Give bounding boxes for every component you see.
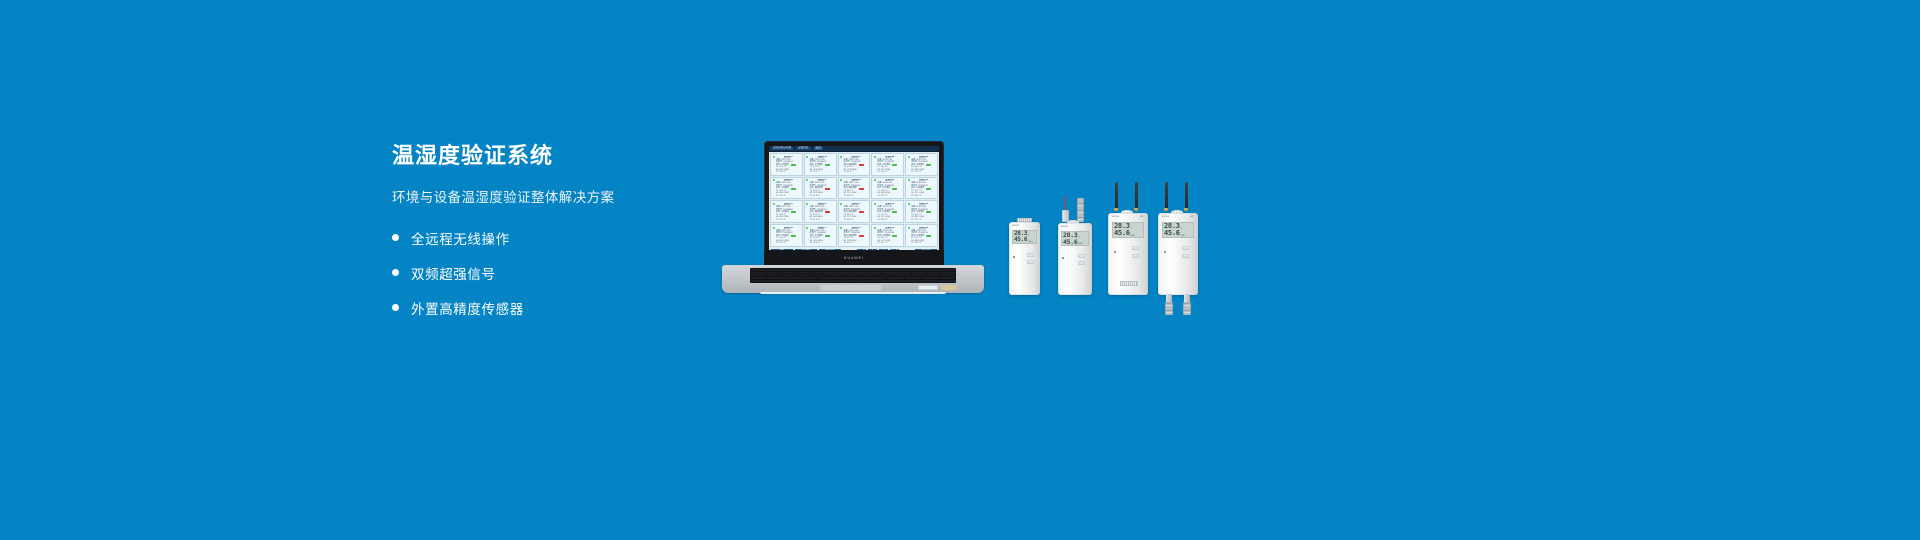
device-housing: ENON H8 28.3 ℃ 45.6 %RH — [1108, 213, 1148, 295]
device-lcd-display: 28.3 ℃ 45.6 %RH — [1112, 222, 1144, 238]
sensor-field-key: T2 — [844, 195, 846, 198]
sensor-status-dot-icon — [806, 227, 808, 229]
antenna-right-icon — [1185, 182, 1188, 210]
sensor-card-title: 监测点19 — [877, 227, 902, 229]
sensor-field-key: T2 — [776, 219, 778, 222]
sensor-card-title: 监测点09 — [877, 179, 902, 181]
keyboard-key[interactable] — [766, 272, 780, 274]
probe-sensor-mesh-icon — [1077, 198, 1084, 222]
sensor-card-row: T230.6 ℃ — [844, 219, 869, 222]
lcd-humidity-unit: %RH — [1078, 243, 1083, 245]
device-button-up[interactable] — [1027, 253, 1034, 257]
sensor-field-value: 25.3 ℃ — [813, 171, 820, 174]
device-housing: ENON 28.3 ℃ 45.6 %RH — [1058, 223, 1092, 295]
keyboard-key[interactable] — [868, 269, 882, 271]
keyboard-key[interactable] — [919, 280, 937, 282]
feature-label: 全远程无线操作 — [411, 228, 510, 248]
sensor-card-row: T225.6 ℃ — [911, 195, 936, 198]
laptop-sticker-badge — [941, 285, 957, 290]
sensor-card[interactable]: 监测点03设备ZDR-1T1H序列号TD09R018状态超限报警T131.4 ℃… — [838, 153, 871, 176]
device-button-up[interactable] — [1078, 254, 1085, 258]
keyboard-key[interactable] — [912, 269, 926, 271]
keyboard-key[interactable] — [883, 269, 897, 271]
keyboard-key[interactable] — [924, 275, 939, 277]
sensor-card-title: 监测点02 — [810, 156, 835, 158]
keyboard-key[interactable] — [780, 272, 794, 274]
sensor-field-key: T2 — [776, 195, 778, 198]
sensor-field-key: T2 — [844, 242, 846, 245]
lcd-humidity-unit: %RH — [1130, 235, 1135, 237]
page-title: 温湿度验证系统 — [392, 143, 722, 169]
hero-banner: 温湿度验证系统 环境与设备温湿度验证整体解决方案 全远程无线操作 双频超强信号 … — [0, 0, 1920, 540]
device-wireless-logger-a: ENON H8 28.3 ℃ 45.6 %RH — [1106, 182, 1150, 296]
keyboard-key[interactable] — [912, 272, 926, 274]
keyboard-key[interactable] — [751, 275, 766, 277]
laptop-sticker-spec — [918, 285, 938, 290]
sensor-status-dot-icon — [773, 156, 775, 158]
keyboard-row[interactable] — [751, 280, 955, 282]
laptop-bezel-chin: HUAWEI — [764, 250, 944, 265]
keyboard-key[interactable] — [897, 269, 911, 271]
device-housing: ENON 28.3 ℃ 45.6 %RH — [1009, 222, 1040, 295]
keyboard-key[interactable] — [863, 280, 881, 282]
keyboard-key[interactable] — [785, 277, 801, 279]
app-header-tab-0[interactable]: 温湿度验证系统 — [771, 147, 793, 151]
keyboard-key[interactable] — [788, 280, 806, 282]
keyboard-key[interactable] — [795, 269, 809, 271]
keyboard-key[interactable] — [905, 277, 921, 279]
sensor-status-dot-icon — [806, 156, 808, 158]
keyboard-key[interactable] — [766, 269, 780, 271]
keyboard-key[interactable] — [939, 277, 955, 279]
sensor-card-title: 监测点04 — [877, 156, 902, 158]
keyboard-key[interactable] — [802, 277, 818, 279]
sensor-status-dot-icon — [773, 227, 775, 229]
keyboard-key[interactable] — [941, 272, 955, 274]
device-wireless-logger-b: ENON H8 28.3 ℃ 45.6 %RH — [1156, 182, 1200, 316]
sensor-card-row: T225.7 ℃ — [911, 219, 936, 222]
sensor-status-dot-icon — [908, 203, 910, 205]
device-model-label: H8 — [1190, 216, 1193, 218]
sensor-card[interactable]: 监测点15设备ZDR-1T1H序列号TD09R086状态正常通讯T125.5 ℃… — [905, 200, 938, 223]
vent-grille-icon — [1120, 281, 1138, 286]
sensor-card[interactable]: 监测点19设备ZDR-1T1H序列号TD09R108状态正常通讯T125.2 ℃… — [871, 224, 904, 247]
sensor-field-value: 25.9 ℃ — [915, 242, 922, 245]
lcd-humidity-value: 45.6 — [1063, 239, 1077, 246]
keyboard-key[interactable] — [810, 272, 824, 274]
sensor-card-title: 监测点13 — [844, 203, 869, 205]
sensor-field-value: 25.3 ℃ — [881, 219, 888, 222]
keyboard-key[interactable] — [768, 277, 784, 279]
sensor-card[interactable]: 监测点09设备ZDR-1T1H序列号TD09R053状态正常通讯T125.0 ℃… — [871, 177, 904, 200]
lcd-humidity-value: 45.6 — [1164, 230, 1180, 237]
keyboard-key[interactable] — [839, 269, 853, 271]
app-header-tab-2[interactable]: 设置 — [814, 147, 823, 151]
sensor-field-value: 25.2 ℃ — [881, 195, 888, 198]
sensor-card-row: T225.9 ℃ — [911, 242, 936, 245]
sensor-card[interactable]: 监测点02设备ZDR-1T1H序列号TD09R012状态正常通讯T125.1 ℃… — [804, 153, 837, 176]
sensor-card-title: 监测点18 — [844, 227, 869, 229]
keyboard-row[interactable] — [751, 277, 955, 279]
sensor-field-value: 25.5 ℃ — [915, 171, 922, 174]
antenna-right-connector-icon — [1134, 208, 1138, 211]
sensor-card-row: T230.9 ℃ — [844, 195, 869, 198]
device-data-logger-external-probe: ENON 28.3 ℃ 45.6 %RH — [1056, 196, 1098, 296]
sensor-field-value: 31.0 ℃ — [813, 219, 820, 222]
keyboard-key[interactable] — [909, 275, 924, 277]
hero-subtitle: 环境与设备温湿度验证整体解决方案 — [392, 186, 722, 206]
status-led-icon — [1013, 256, 1015, 258]
sensor-card[interactable]: 监测点06设备ZDR-1T1H序列号TD09R036状态正常通讯T125.2 ℃… — [770, 177, 803, 200]
keyboard-key[interactable] — [824, 272, 838, 274]
sensor-status-dot-icon — [874, 227, 876, 229]
sensor-card-grid: 监测点01设备ZDR-1T3H序列号TD09R007状态正常通讯T125.6 ℃… — [769, 152, 939, 248]
keyboard-key[interactable] — [836, 277, 852, 279]
keyboard-key[interactable] — [861, 275, 876, 277]
sensor-card-row: T231.1 ℃ — [844, 171, 869, 174]
keyboard-row[interactable] — [751, 269, 955, 271]
probe-sensor-mesh-right-icon — [1183, 302, 1191, 315]
laptop-front-lip — [760, 292, 946, 294]
sensor-card-row: T225.4 ℃ — [810, 242, 835, 245]
keyboard-key[interactable] — [937, 280, 955, 282]
sensor-card[interactable]: 监测点11设备ZDR-1T1H序列号TD09R064状态正常通讯T125.3 ℃… — [770, 200, 803, 223]
device-model-label: H8 — [1140, 216, 1143, 218]
sensor-card-title: 监测点20 — [911, 227, 936, 229]
sensor-field-value: 25.6 ℃ — [915, 195, 922, 198]
keyboard-key[interactable] — [927, 272, 941, 274]
device-button-down[interactable] — [1027, 260, 1034, 264]
keyboard-key[interactable] — [877, 275, 892, 277]
keyboard-key[interactable] — [922, 277, 938, 279]
sensor-card[interactable]: 监测点10设备ZDR-1T1H序列号TD09R059状态正常通讯T125.7 ℃… — [905, 177, 938, 200]
sensor-card-row: T231.8 ℃ — [810, 195, 835, 198]
keyboard-row[interactable] — [751, 275, 955, 277]
bullet-dot-icon — [392, 234, 399, 241]
device-button-down[interactable] — [1182, 254, 1189, 258]
device-lcd-display: 28.3 ℃ 45.6 %RH — [1162, 222, 1194, 238]
sensor-card-row: T225.0 ℃ — [877, 171, 902, 174]
feature-label: 外置高精度传感器 — [411, 298, 524, 318]
sensor-field-value: 25.7 ℃ — [915, 219, 922, 222]
sensor-field-key: T2 — [911, 195, 913, 198]
keyboard-key[interactable] — [881, 280, 899, 282]
hero-copy: 温湿度验证系统 环境与设备温湿度验证整体解决方案 全远程无线操作 双频超强信号 … — [392, 143, 722, 321]
sensor-card-row: T225.2 ℃ — [877, 195, 902, 198]
keyboard-key[interactable] — [940, 275, 955, 277]
keyboard-key[interactable] — [795, 272, 809, 274]
sensor-field-value: 31.5 ℃ — [847, 242, 854, 245]
sensor-status-dot-icon — [874, 156, 876, 158]
sensor-card-title: 监测点15 — [911, 203, 936, 205]
sensor-status-dot-icon — [908, 156, 910, 158]
sensor-field-key: T2 — [810, 242, 812, 245]
sensor-field-key: T2 — [810, 171, 812, 174]
keyboard-key[interactable] — [810, 269, 824, 271]
keyboard-key[interactable] — [780, 269, 794, 271]
device-lcd-display: 28.3 ℃ 45.6 %RH — [1061, 231, 1089, 246]
keyboard-key[interactable] — [839, 272, 853, 274]
sensor-field-key: T2 — [877, 219, 879, 222]
keyboard-key[interactable] — [770, 280, 788, 282]
sensor-field-value: 25.8 ℃ — [779, 171, 786, 174]
sensor-card-row: T225.1 ℃ — [877, 242, 902, 245]
sensor-card[interactable]: 监测点14设备ZDR-1T1H序列号TD09R081状态正常通讯T125.1 ℃… — [871, 200, 904, 223]
sensor-card-row: T225.8 ℃ — [776, 171, 801, 174]
sensor-status-dot-icon — [773, 203, 775, 205]
sensor-card[interactable]: 监测点20设备ZDR-1T1H序列号TD09R114状态正常通讯T125.8 ℃… — [905, 224, 938, 247]
sensor-card-row: T231.5 ℃ — [844, 242, 869, 245]
keyboard-key[interactable] — [870, 277, 886, 279]
laptop-trackpad[interactable] — [820, 284, 882, 291]
keyboard-key[interactable] — [807, 280, 825, 282]
lcd-humidity-value: 45.6 — [1014, 237, 1027, 243]
list-item: 全远程无线操作 — [392, 225, 722, 250]
sensor-card-row: T225.3 ℃ — [810, 171, 835, 174]
sensor-status-dot-icon — [840, 156, 842, 158]
laptop-brand-logo: HUAWEI — [844, 256, 864, 260]
keyboard-key[interactable] — [900, 280, 918, 282]
sensor-card[interactable]: 监测点16设备ZDR-1T1H序列号TD09R092状态正常通讯T125.0 ℃… — [770, 224, 803, 247]
keyboard-key[interactable] — [868, 272, 882, 274]
sensor-card[interactable]: 监测点13设备ZDR-1T1H序列号TD09R075状态超限报警T130.4 ℃… — [838, 200, 871, 223]
app-header-tab-1[interactable]: 设备监控 — [796, 147, 810, 151]
keyboard-key[interactable] — [814, 275, 829, 277]
sensor-field-key: T2 — [911, 242, 913, 245]
antenna-right-icon — [1135, 182, 1138, 210]
device-button-up[interactable] — [1182, 246, 1189, 250]
sensor-card-row: T225.4 ℃ — [776, 195, 801, 198]
device-data-logger-basic: ENON 28.3 ℃ 45.6 %RH — [1008, 218, 1042, 296]
keyboard-key[interactable] — [798, 275, 813, 277]
probe-sensor-mesh-left-icon — [1165, 302, 1173, 315]
keyboard-key[interactable] — [883, 272, 897, 274]
keyboard-key[interactable] — [927, 269, 941, 271]
keyboard-key[interactable] — [824, 269, 838, 271]
sensor-card-title: 监测点12 — [810, 203, 835, 205]
sensor-status-dot-icon — [874, 179, 876, 181]
sensor-field-value: 30.6 ℃ — [847, 219, 854, 222]
sensor-card-title: 监测点05 — [911, 156, 936, 158]
sensor-field-key: T2 — [810, 219, 812, 222]
bullet-dot-icon — [392, 269, 399, 276]
laptop-device: 温湿度验证系统 设备监控 设置 监测点01设备ZDR-1T3H序列号TD09R0… — [722, 141, 984, 297]
laptop-base — [722, 265, 984, 293]
keyboard-key[interactable] — [751, 280, 769, 282]
sensor-card-title: 监测点11 — [776, 203, 801, 205]
sensor-card[interactable]: 监测点12设备ZDR-1T1H序列号TD09R070状态超限报警T131.2 ℃… — [804, 200, 837, 223]
sensor-field-value: 31.1 ℃ — [847, 171, 854, 174]
sensor-card-row: T231.0 ℃ — [810, 219, 835, 222]
sensor-status-dot-icon — [806, 179, 808, 181]
device-button-up[interactable] — [1132, 246, 1139, 250]
sensor-field-key: T2 — [776, 171, 778, 174]
feature-label: 双频超强信号 — [411, 263, 496, 283]
keyboard-key[interactable] — [941, 269, 955, 271]
device-brand-label: ENON — [1112, 216, 1120, 218]
device-button-down[interactable] — [1078, 261, 1085, 265]
sensor-field-value: 31.8 ℃ — [813, 195, 820, 198]
device-brand-label: ENON — [1012, 225, 1020, 227]
sensor-field-value: 30.9 ℃ — [847, 195, 854, 198]
sensor-card[interactable]: 监测点04设备ZDR-1T1H序列号TD09R023状态正常通讯T124.9 ℃… — [871, 153, 904, 176]
sensor-card[interactable]: 监测点08设备ZDR-1T1H序列号TD09R048状态超限报警T130.7 ℃… — [838, 177, 871, 200]
keyboard-key[interactable] — [897, 272, 911, 274]
sensor-field-value: 25.4 ℃ — [779, 195, 786, 198]
device-button-down[interactable] — [1132, 254, 1139, 258]
sensor-field-key: T2 — [877, 242, 879, 245]
keyboard-key[interactable] — [853, 272, 867, 274]
sensor-status-dot-icon — [840, 203, 842, 205]
lcd-humidity-unit: %RH — [1028, 241, 1033, 243]
keyboard-key[interactable] — [830, 275, 845, 277]
sensor-field-value: 25.1 ℃ — [881, 242, 888, 245]
keyboard-key[interactable] — [826, 280, 844, 282]
sensor-status-dot-icon — [806, 203, 808, 205]
antenna-left-connector-icon — [1114, 208, 1118, 211]
keyboard-key[interactable] — [751, 269, 765, 271]
status-led-icon — [1114, 251, 1116, 253]
keyboard-key[interactable] — [888, 277, 904, 279]
sensor-field-value: 25.5 ℃ — [779, 219, 786, 222]
bullet-dot-icon — [392, 304, 399, 311]
laptop-screen: 温湿度验证系统 设备监控 设置 监测点01设备ZDR-1T3H序列号TD09R0… — [769, 146, 939, 250]
sensor-card-title: 监测点14 — [877, 203, 902, 205]
sensor-card-row: T225.5 ℃ — [911, 171, 936, 174]
sensor-card-row: T225.3 ℃ — [877, 219, 902, 222]
sensor-field-key: T2 — [776, 242, 778, 245]
sensor-card-row: T225.5 ℃ — [776, 219, 801, 222]
sensor-field-value: 25.0 ℃ — [881, 171, 888, 174]
keyboard-key[interactable] — [853, 277, 869, 279]
keyboard-key[interactable] — [844, 280, 862, 282]
sensor-card[interactable]: 监测点18设备ZDR-1T1H序列号TD09R103状态超限报警T131.7 ℃… — [838, 224, 871, 247]
sensor-status-dot-icon — [840, 227, 842, 229]
sensor-card-row: T225.2 ℃ — [776, 242, 801, 245]
antenna-left-connector-icon — [1164, 208, 1168, 211]
sensor-field-key: T2 — [911, 219, 913, 222]
sensor-status-dot-icon — [874, 203, 876, 205]
antenna-right-connector-icon — [1184, 208, 1188, 211]
keyboard-key[interactable] — [751, 277, 767, 279]
antenna-left-icon — [1165, 182, 1168, 210]
device-lcd-display: 28.3 ℃ 45.6 %RH — [1012, 230, 1037, 244]
lcd-humidity-value: 45.6 — [1114, 230, 1130, 237]
laptop-lid: 温湿度验证系统 设备监控 设置 监测点01设备ZDR-1T3H序列号TD09R0… — [764, 141, 944, 265]
sensor-field-value: 25.2 ℃ — [779, 242, 786, 245]
list-item: 外置高精度传感器 — [392, 295, 722, 320]
sensor-status-dot-icon — [840, 179, 842, 181]
sensor-status-dot-icon — [908, 227, 910, 229]
keyboard-key[interactable] — [846, 275, 861, 277]
keyboard-key[interactable] — [893, 275, 908, 277]
status-led-icon — [1164, 251, 1166, 253]
keyboard-key[interactable] — [767, 275, 782, 277]
sensor-field-key: T2 — [877, 171, 879, 174]
sensor-field-key: T2 — [844, 171, 846, 174]
sensor-field-key: T2 — [877, 195, 879, 198]
status-led-icon — [1062, 257, 1064, 259]
device-brand-label: ENON — [1061, 226, 1069, 228]
lcd-humidity-unit: %RH — [1180, 235, 1185, 237]
sensor-card[interactable]: 监测点01设备ZDR-1T3H序列号TD09R007状态正常通讯T125.6 ℃… — [770, 153, 803, 176]
sensor-card[interactable]: 监测点17设备ZDR-1T1H序列号TD09R097状态正常通讯T125.6 ℃… — [804, 224, 837, 247]
feature-list: 全远程无线操作 双频超强信号 外置高精度传感器 — [392, 225, 722, 320]
keyboard-key[interactable] — [853, 269, 867, 271]
sensor-card-title: 监测点16 — [776, 227, 801, 229]
device-housing: ENON H8 28.3 ℃ 45.6 %RH — [1158, 213, 1198, 295]
antenna-left-icon — [1115, 182, 1118, 210]
keyboard-key[interactable] — [819, 277, 835, 279]
sensor-card[interactable]: 监测点07设备ZDR-1T1H序列号TD09R042状态超限报警T132.0 ℃… — [804, 177, 837, 200]
sensor-card-title: 监测点01 — [776, 156, 801, 158]
list-item: 双频超强信号 — [392, 260, 722, 285]
keyboard-row[interactable] — [751, 272, 955, 274]
device-brand-label: ENON — [1162, 216, 1170, 218]
sensor-field-key: T2 — [844, 219, 846, 222]
sensor-card-title: 监测点17 — [810, 227, 835, 229]
sensor-status-dot-icon — [773, 179, 775, 181]
sensor-field-key: T2 — [810, 195, 812, 198]
sensor-card[interactable]: 监测点05设备ZDR-1T1H序列号TD09R031状态正常通讯T125.4 ℃… — [905, 153, 938, 176]
sensor-card-title: 监测点03 — [844, 156, 869, 158]
keyboard-key[interactable] — [783, 275, 798, 277]
sensor-field-key: T2 — [911, 171, 913, 174]
sensor-field-value: 25.4 ℃ — [813, 242, 820, 245]
laptop-keyboard[interactable] — [750, 268, 956, 283]
keyboard-key[interactable] — [751, 272, 765, 274]
sensor-status-dot-icon — [908, 179, 910, 181]
